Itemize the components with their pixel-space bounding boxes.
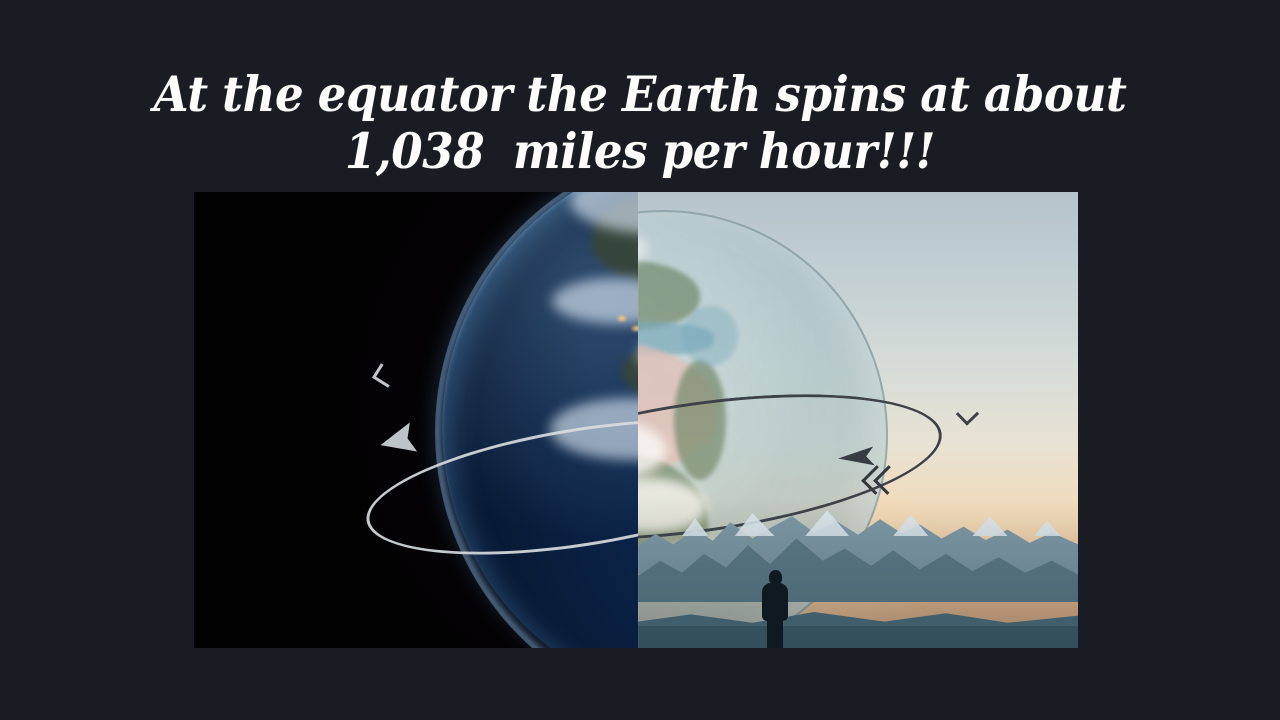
person-silhouette xyxy=(758,570,792,648)
person-legs xyxy=(767,618,783,648)
split-earth-composite-image xyxy=(194,192,1078,648)
split-seam xyxy=(638,192,639,648)
foreground-shading xyxy=(638,498,1078,648)
atmosphere-limb-glow xyxy=(435,192,638,648)
day-half-panel xyxy=(638,192,1078,648)
night-half-panel xyxy=(194,192,638,648)
page-title: At the equator the Earth spins at about … xyxy=(106,66,1173,180)
earth-night-container xyxy=(194,192,638,648)
slide-canvas: At the equator the Earth spins at about … xyxy=(0,0,1280,720)
person-body xyxy=(762,583,788,621)
